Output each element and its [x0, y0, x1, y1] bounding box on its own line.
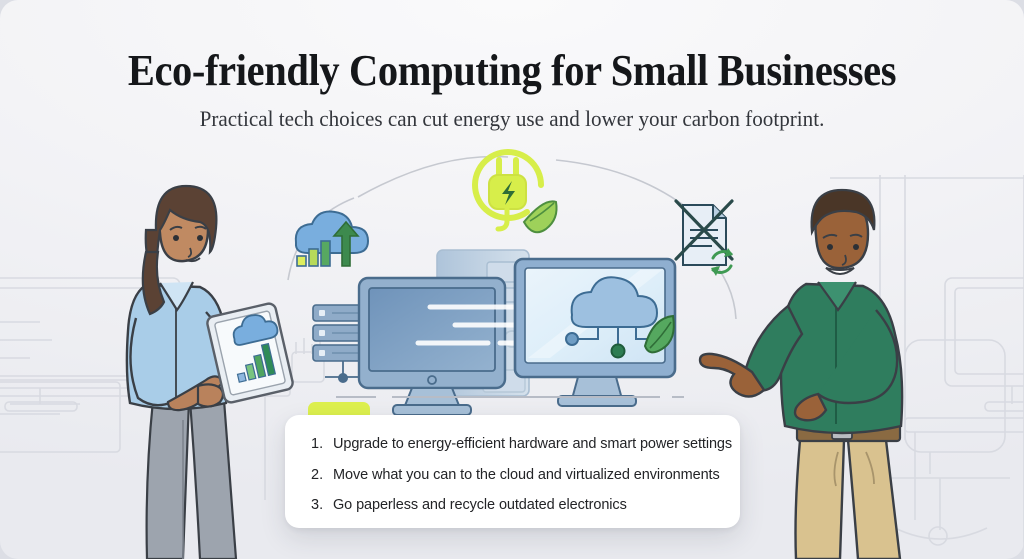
person-left — [127, 186, 294, 559]
list-item-number: 2. — [311, 468, 326, 483]
list-item: 1. Upgrade to energy-efficient hardware … — [311, 437, 740, 452]
list-item: 3. Go paperless and recycle outdated ele… — [311, 498, 740, 513]
list-item-text: Upgrade to energy-efficient hardware and… — [333, 437, 732, 452]
eco-plug-icon — [475, 152, 557, 232]
list-item: 2. Move what you can to the cloud and vi… — [311, 468, 740, 483]
list-item-number: 1. — [311, 437, 326, 452]
list-item-number: 3. — [311, 498, 326, 513]
list-item-text: Go paperless and recycle outdated electr… — [333, 498, 627, 513]
tips-card: 1. Upgrade to energy-efficient hardware … — [285, 415, 740, 528]
cloud-growth-icon — [296, 212, 368, 267]
list-item-text: Move what you can to the cloud and virtu… — [333, 468, 720, 483]
paperless-recycle-icon — [676, 201, 733, 276]
infographic-page: Eco-friendly Computing for Small Busines… — [0, 0, 1024, 559]
tips-list: 1. Upgrade to energy-efficient hardware … — [285, 415, 740, 513]
cloud-monitor — [515, 259, 675, 406]
